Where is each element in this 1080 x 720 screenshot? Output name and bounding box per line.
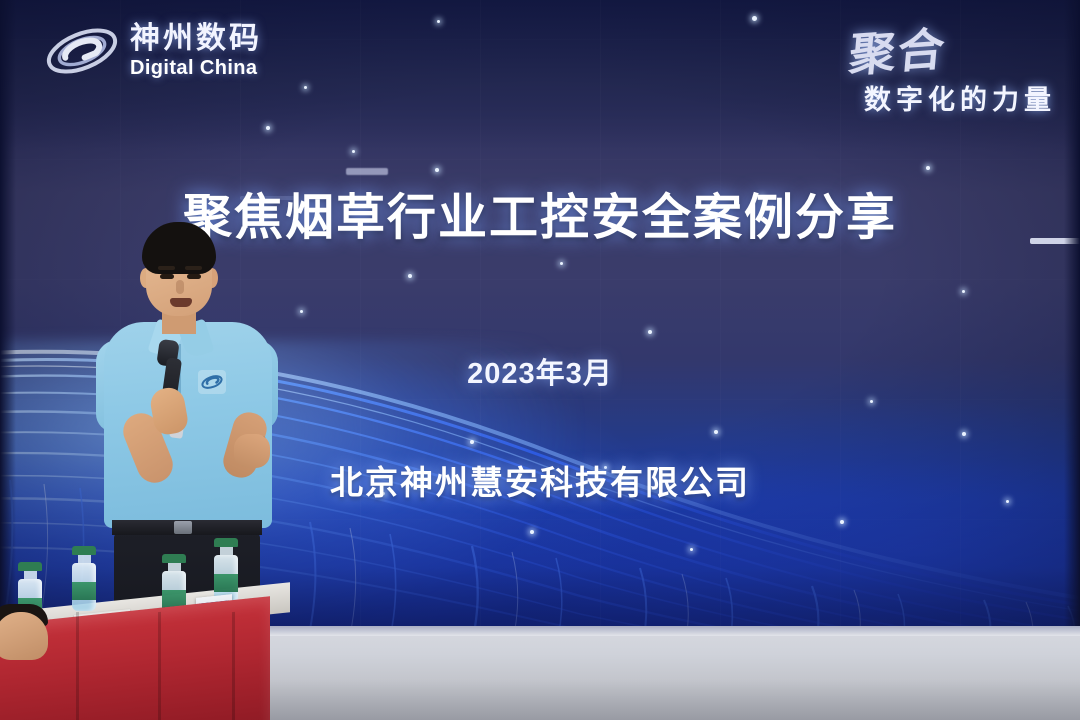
particle-dot (962, 432, 966, 436)
particle-dot (435, 168, 439, 172)
particle-dot (304, 86, 307, 89)
particle-dot (690, 548, 693, 551)
presenter-belt-buckle (174, 521, 192, 534)
screenshot-root: 神州数码 Digital China 聚合 数字化的力量 聚焦烟草行业工控安全案… (0, 0, 1080, 720)
bottle-body (72, 563, 96, 611)
water-bottle (214, 538, 238, 603)
drape-fold (76, 612, 79, 720)
drape-fold (232, 612, 235, 720)
screen-left-edge-shadow (0, 0, 16, 640)
particle-dot (840, 520, 844, 524)
presenter-hair (142, 222, 216, 274)
presenter-mouth (170, 298, 192, 307)
particle-dot (470, 440, 474, 444)
presenter-right-hand (234, 434, 270, 468)
particle-dot (408, 274, 412, 278)
logo-wordmark: 神州数码 Digital China (130, 24, 262, 78)
particle-dot (437, 20, 440, 23)
particle-dot (926, 166, 930, 170)
event-subtitle: 数字化的力量 (850, 78, 1056, 117)
seated-audience-member (0, 612, 48, 660)
red-draped-panel-table (0, 560, 410, 720)
particle-dot (266, 126, 270, 130)
presenter-eye-left (160, 274, 174, 279)
particle-dot (530, 530, 534, 534)
particle-dot (870, 400, 873, 403)
bottle-neck (168, 563, 181, 571)
bottle-cap (214, 538, 238, 547)
drape-fold (158, 612, 161, 720)
bottle-label (72, 582, 96, 600)
digital-china-swirl-logo-icon (44, 18, 120, 84)
particle-dot (714, 430, 718, 434)
bottle-cap (18, 562, 42, 571)
digital-china-logo: 神州数码 Digital China (44, 18, 262, 84)
presenter-eyebrow-right (185, 266, 202, 270)
water-bottle (72, 546, 96, 611)
bottle-neck (220, 547, 233, 555)
bottle-neck (24, 571, 37, 579)
bottle-label (214, 574, 238, 592)
particle-dot (962, 290, 965, 293)
bottle-cap (162, 554, 186, 563)
presenter-nose (176, 280, 184, 294)
event-brand-block: 聚合 数字化的力量 (850, 16, 1056, 117)
title-accent-dash (346, 168, 388, 175)
presenter-eye-right (187, 274, 201, 279)
company-logo-badge (198, 370, 226, 394)
screen-right-edge-shadow (1064, 0, 1080, 640)
logo-chinese-name: 神州数码 (130, 24, 262, 54)
presenter-eyebrow-left (158, 266, 175, 270)
particle-dot (648, 330, 652, 334)
particle-dot (560, 262, 563, 265)
bottle-cap (72, 546, 96, 555)
bottle-neck (78, 555, 91, 563)
particle-dot (352, 150, 355, 153)
particle-dot (752, 16, 757, 21)
logo-english-name: Digital China (130, 58, 262, 78)
event-calligraphy-title: 聚合 (847, 13, 950, 86)
